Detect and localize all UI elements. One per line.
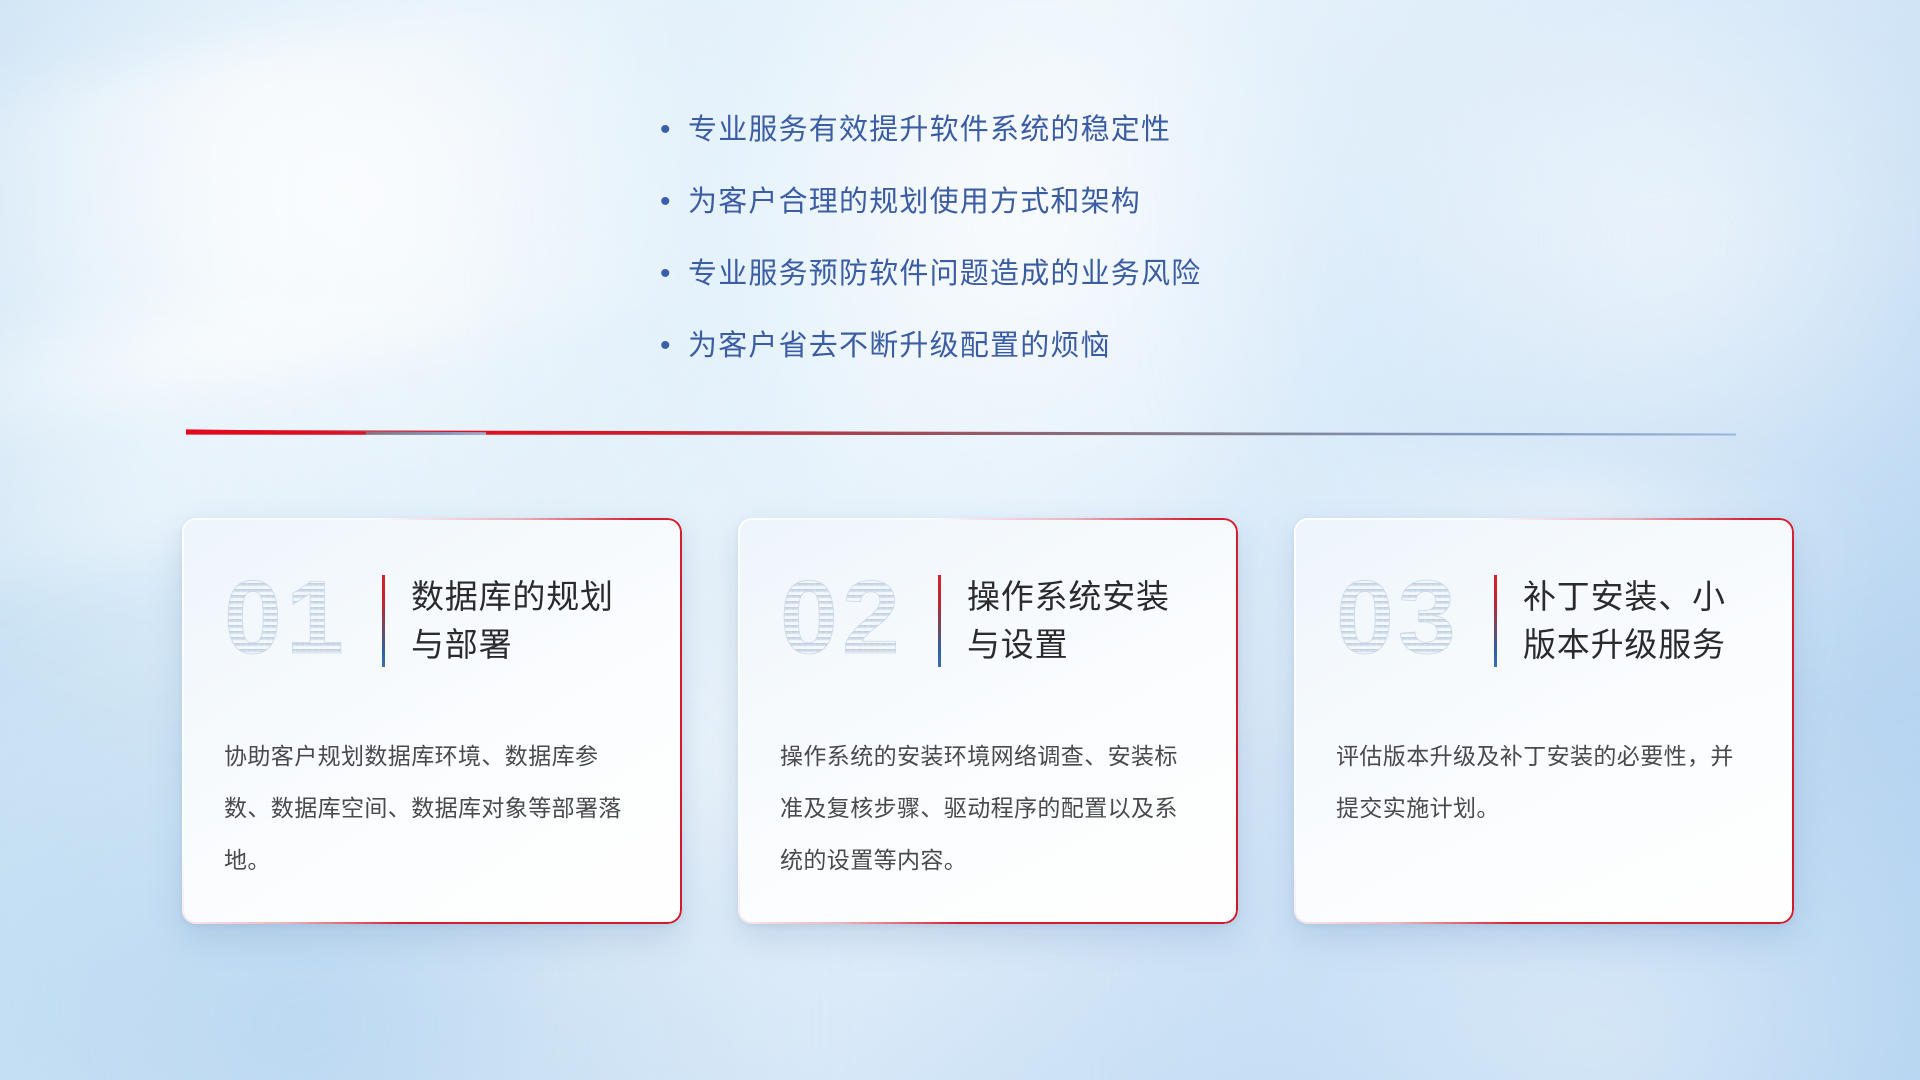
- bullet-item-text: 专业服务预防软件问题造成的业务风险: [688, 252, 1201, 296]
- card-title-line-1: 操作系统安装: [967, 573, 1170, 621]
- card-header: 01 01 数据库的规划 与部署: [224, 562, 640, 680]
- bullet-item-4: • 为客户省去不断升级配置的烦恼: [660, 324, 1420, 368]
- card-title-divider: [382, 575, 385, 667]
- bullet-item-2: • 为客户合理的规划使用方式和架构: [660, 180, 1420, 224]
- info-card-01[interactable]: 01 01 数据库的规划 与部署 协助客户规划数据库环境、数据库参数、数据库空间…: [182, 518, 682, 924]
- bullet-item-text: 为客户省去不断升级配置的烦恼: [688, 324, 1111, 368]
- bullet-dot-icon: •: [660, 324, 688, 368]
- card-title-line-2: 版本升级服务: [1523, 621, 1726, 669]
- card-title: 操作系统安装 与设置: [967, 573, 1170, 669]
- card-title-line-1: 补丁安装、小: [1523, 573, 1726, 621]
- card-title-line-2: 与设置: [967, 621, 1170, 669]
- card-title: 数据库的规划 与部署: [411, 573, 614, 669]
- card-number-03-icon: 03 03: [1336, 565, 1486, 677]
- bullet-item-1: • 专业服务有效提升软件系统的稳定性: [660, 108, 1420, 152]
- bullet-list: • 专业服务有效提升软件系统的稳定性 • 为客户合理的规划使用方式和架构 • 专…: [660, 108, 1420, 396]
- card-title: 补丁安装、小 版本升级服务: [1523, 573, 1726, 669]
- divider-shape: [186, 424, 1736, 442]
- card-number-01-icon: 01 01: [224, 565, 374, 677]
- card-row: 01 01 数据库的规划 与部署 协助客户规划数据库环境、数据库参数、数据库空间…: [182, 518, 1794, 924]
- card-title-line-2: 与部署: [411, 621, 614, 669]
- info-card-03[interactable]: 03 03 补丁安装、小 版本升级服务 评估版本升级及补丁安装的必要性，并提交实…: [1294, 518, 1794, 924]
- info-card-02[interactable]: 02 02 操作系统安装 与设置 操作系统的安装环境网络调查、安装标准及复核步骤…: [738, 518, 1238, 924]
- card-title-divider: [1494, 575, 1497, 667]
- bullet-item-text: 为客户合理的规划使用方式和架构: [688, 180, 1141, 224]
- section-divider: [186, 424, 1736, 442]
- card-header: 02 02 操作系统安装 与设置: [780, 562, 1196, 680]
- bullet-dot-icon: •: [660, 252, 688, 296]
- card-number-02-icon: 02 02: [780, 565, 930, 677]
- card-body-text: 操作系统的安装环境网络调查、安装标准及复核步骤、驱动程序的配置以及系统的设置等内…: [780, 730, 1196, 886]
- bullet-item-text: 专业服务有效提升软件系统的稳定性: [688, 108, 1171, 152]
- svg-text:02: 02: [780, 565, 904, 676]
- card-title-divider: [938, 575, 941, 667]
- svg-text:01: 01: [224, 565, 348, 676]
- bullet-dot-icon: •: [660, 180, 688, 224]
- bullet-dot-icon: •: [660, 108, 688, 152]
- bullet-item-3: • 专业服务预防软件问题造成的业务风险: [660, 252, 1420, 296]
- card-header: 03 03 补丁安装、小 版本升级服务: [1336, 562, 1752, 680]
- svg-text:03: 03: [1336, 565, 1460, 676]
- card-body-text: 协助客户规划数据库环境、数据库参数、数据库空间、数据库对象等部署落地。: [224, 730, 640, 886]
- card-title-line-1: 数据库的规划: [411, 573, 614, 621]
- card-body-text: 评估版本升级及补丁安装的必要性，并提交实施计划。: [1336, 730, 1752, 834]
